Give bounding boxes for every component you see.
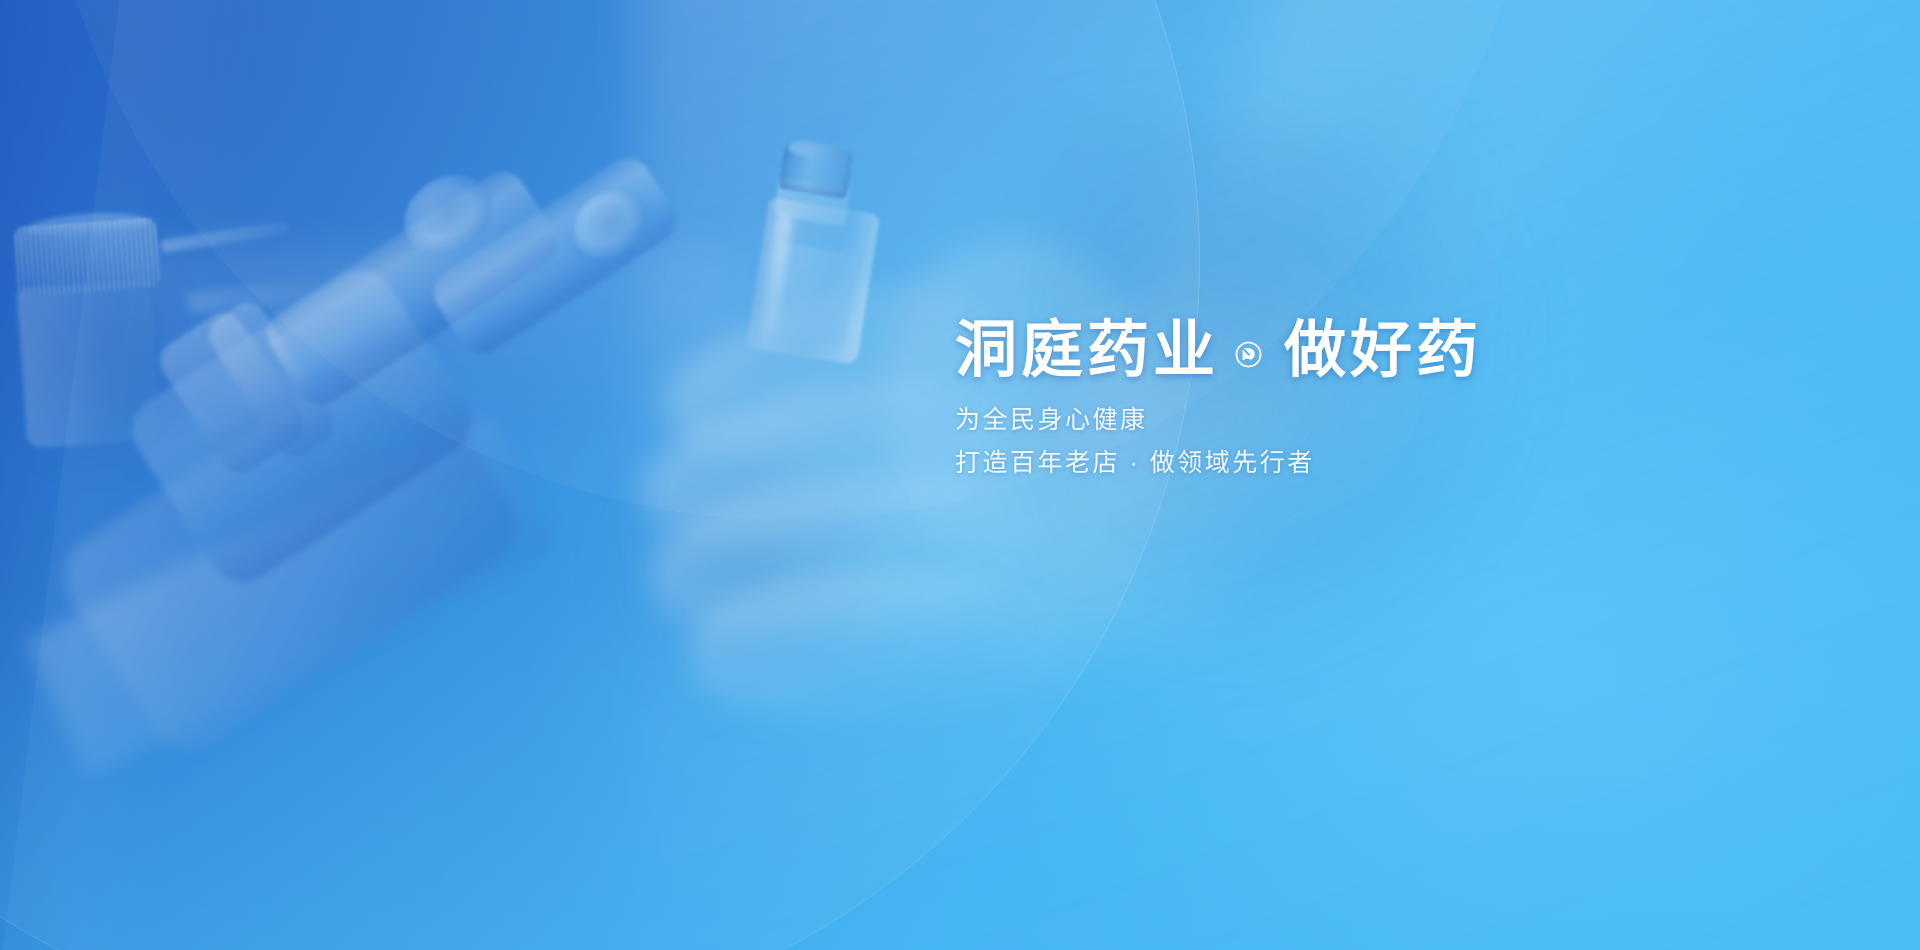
hero-subline-2: 打造百年老店 · 做领域先行者 xyxy=(955,444,1482,483)
hero-headline: 洞庭药业 做好药 xyxy=(955,318,1482,385)
hero-text-block: 洞庭药业 做好药 为全民身心健康 打造百年老店 · 做领域先行者 xyxy=(955,318,1482,482)
brand-claim: 做好药 xyxy=(1284,318,1482,385)
hero-banner: 洞庭药业 做好药 为全民身心健康 打造百年老店 · 做领域先行者 xyxy=(0,0,1920,950)
circular-d-monogram-icon xyxy=(1235,341,1262,368)
hero-subline-1: 为全民身心健康 xyxy=(955,401,1482,440)
brand-name: 洞庭药业 xyxy=(955,318,1219,385)
